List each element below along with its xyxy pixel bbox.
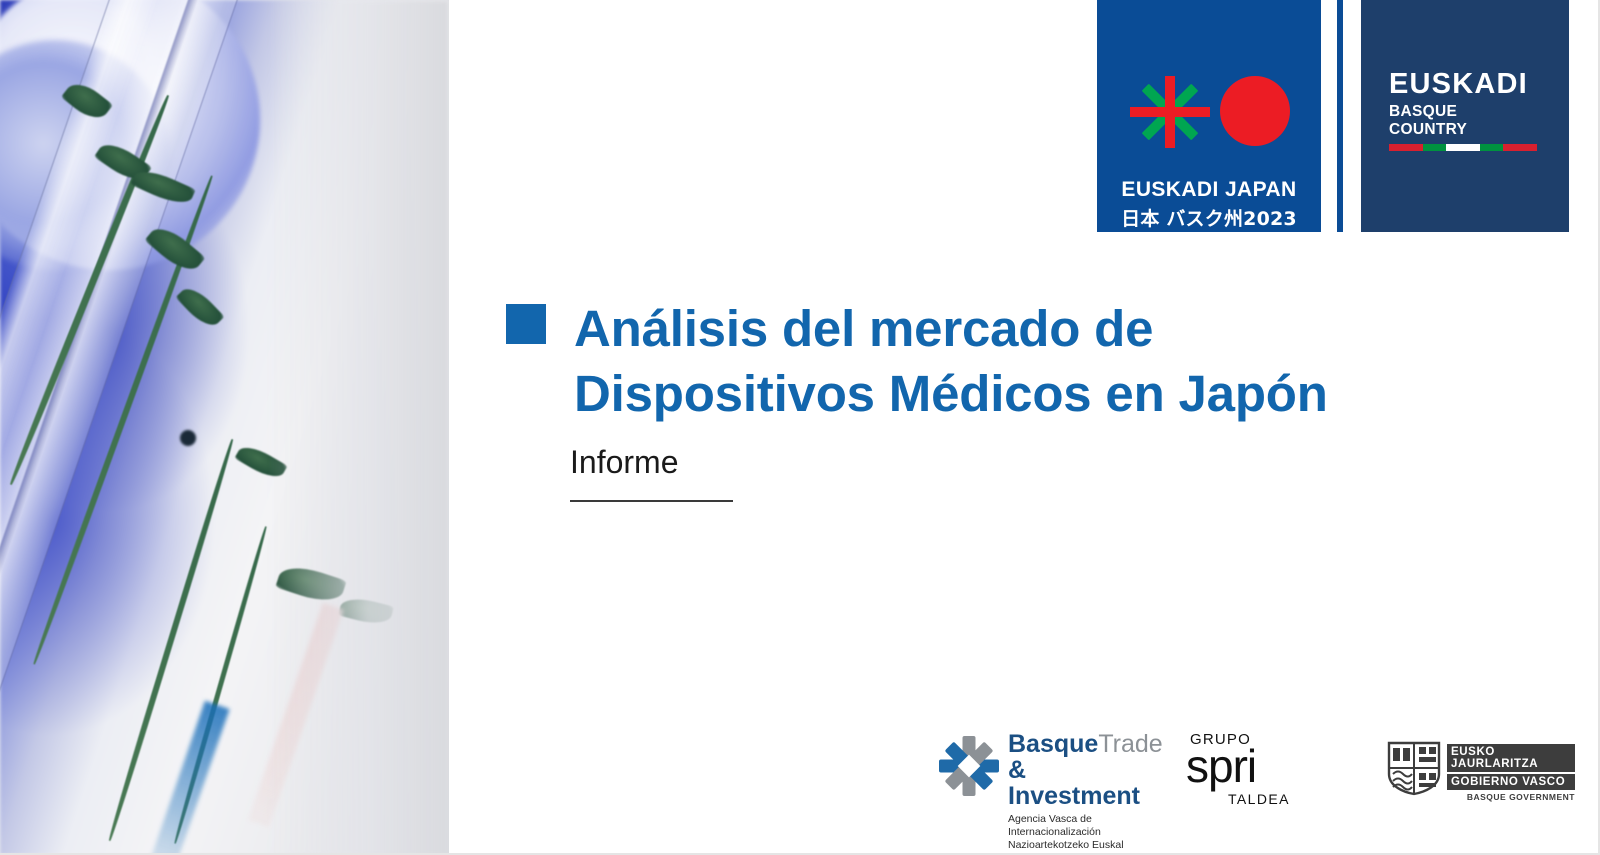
trade-word: Trade <box>1098 730 1162 758</box>
report-cover-slide: EUSKADI JAPAN 日本 バスク州2023 EUSKADI BASQUE… <box>0 0 1600 855</box>
lauburu-asterisk-icon <box>938 735 1000 797</box>
basque-word: Basque <box>1008 730 1098 758</box>
spri-wordmark: spri <box>1186 743 1256 789</box>
ikurrina-stripe <box>1389 144 1537 151</box>
investment-word: & Investment <box>1008 757 1163 809</box>
page-title-line-2: Dispositivos Médicos en Japón <box>574 365 1328 422</box>
grupo-spri-taldea-logo: GRUPO spri TALDEA <box>1182 729 1332 809</box>
eusko-jaurlaritza-label: EUSKO JAURLARITZA <box>1447 744 1575 772</box>
rising-sun-icon <box>1220 76 1290 146</box>
subtitle-underline <box>570 500 733 502</box>
basque-coat-of-arms-icon <box>1385 740 1443 796</box>
page-title: Análisis del mercado deDispositivos Médi… <box>506 296 1486 427</box>
euskadi-label: EUSKADI <box>1389 70 1539 99</box>
euskadi-japan-line-2: 日本 バスク州2023 <box>1097 204 1321 231</box>
title-block: Análisis del mercado deDispositivos Médi… <box>506 296 1486 427</box>
lauburu-sun-icon <box>1128 74 1290 150</box>
title-bullet-square <box>506 304 546 344</box>
gobierno-vasco-label: GOBIERNO VASCO <box>1447 774 1575 790</box>
euskadi-japan-2023-logo: EUSKADI JAPAN 日本 バスク州2023 <box>1097 0 1321 232</box>
eusko-jaurlaritza-gobierno-vasco-logo: EUSKO JAURLARITZA GOBIERNO VASCO BASQUE … <box>1385 738 1575 802</box>
page-subtitle: Informe <box>570 444 678 481</box>
basque-government-label: BASQUE GOVERNMENT <box>1447 792 1575 802</box>
euskadi-japan-line-1: EUSKADI JAPAN <box>1097 178 1321 202</box>
basque-trade-tagline-es: Agencia Vasca de Internacionalización <box>1008 813 1163 839</box>
laboratory-photo <box>0 0 449 855</box>
basque-trade-investment-logo: BasqueTrade & Investment Agencia Vasca d… <box>938 731 1153 811</box>
basque-country-label: BASQUE COUNTRY <box>1389 103 1539 139</box>
page-title-line-1: Análisis del mercado de <box>574 300 1153 357</box>
euskadi-basque-country-logo: EUSKADI BASQUE COUNTRY <box>1337 0 1569 232</box>
spri-taldea-label: TALDEA <box>1228 791 1290 807</box>
